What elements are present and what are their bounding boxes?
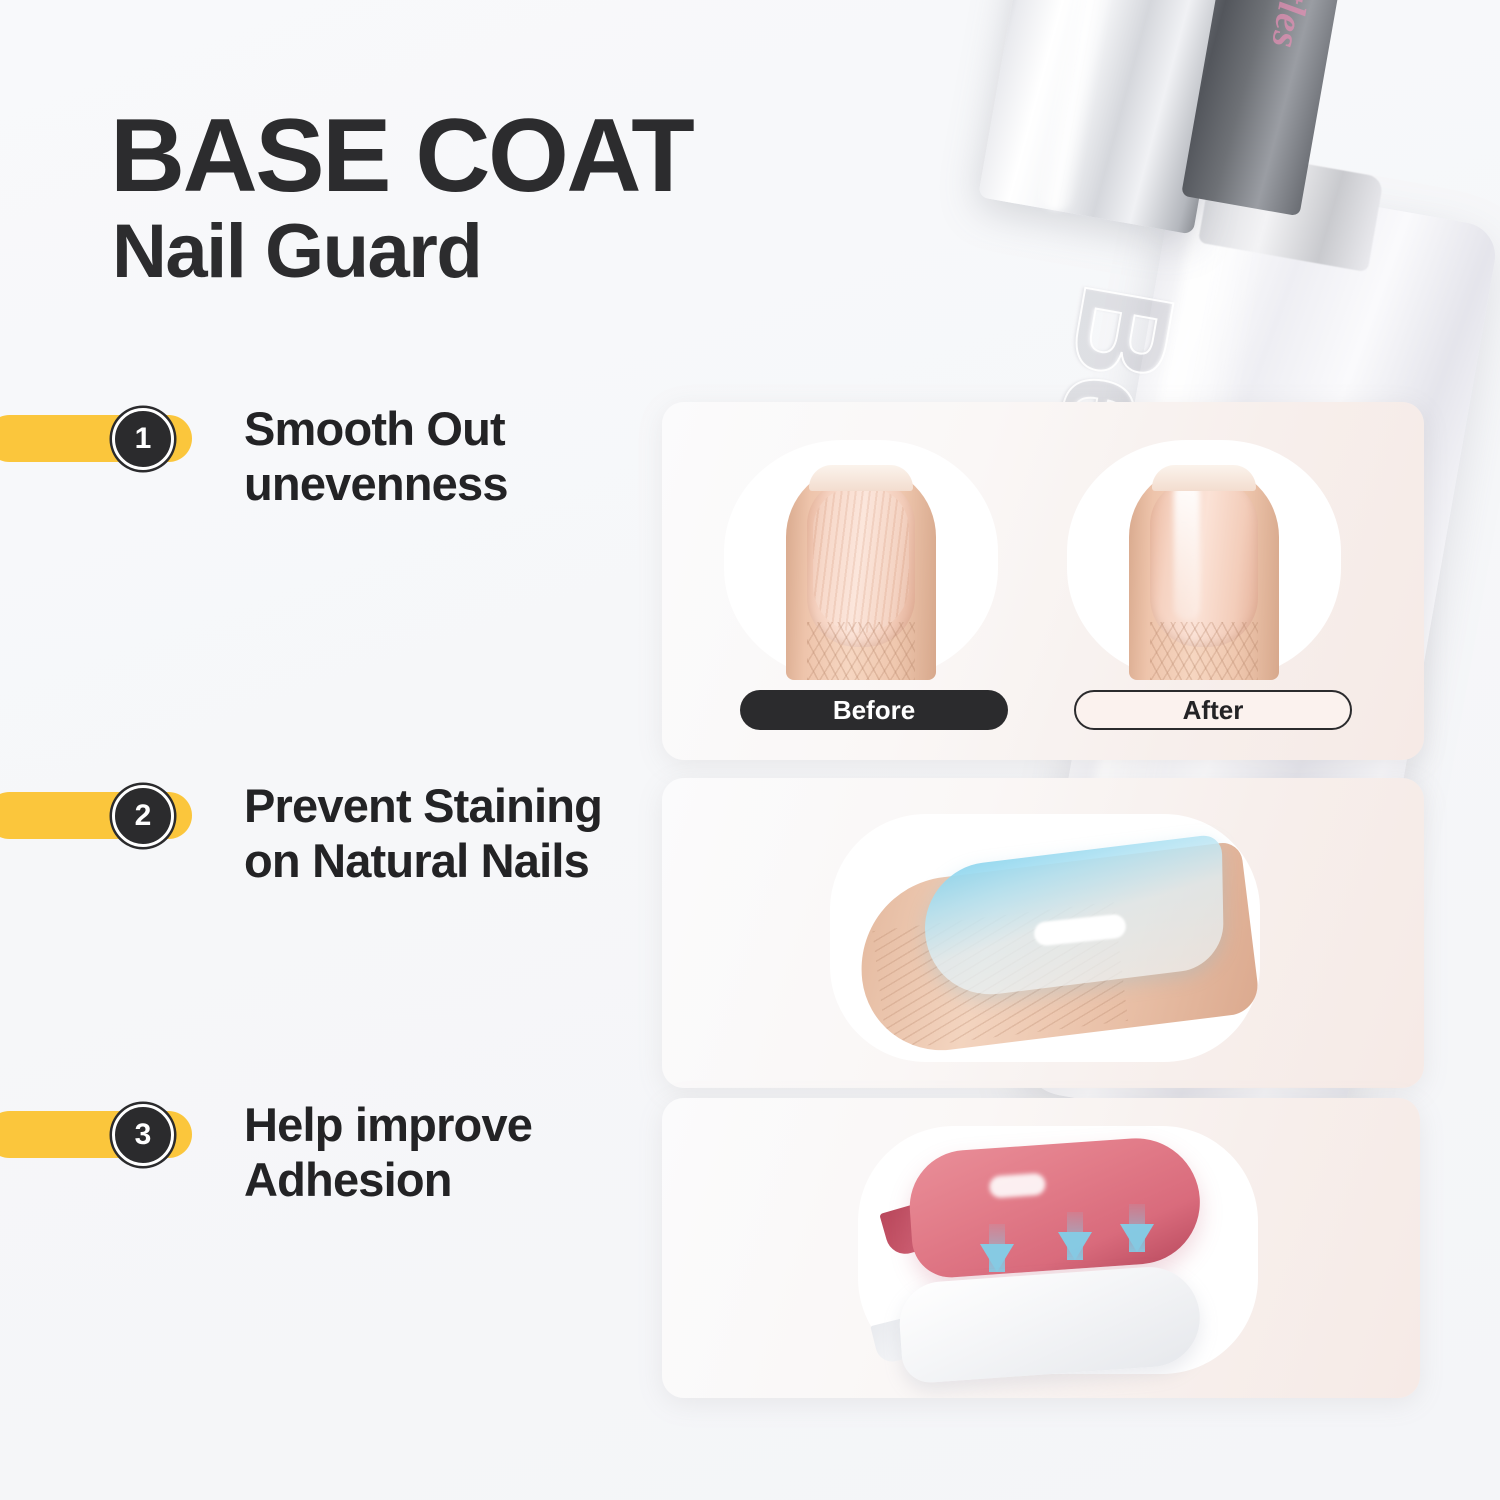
bottle-cap-chrome	[978, 0, 1290, 235]
feature-label-2: Prevent Staining on Natural Nails	[244, 778, 664, 889]
before-label-pill: Before	[740, 690, 1008, 730]
stain-protection-card	[662, 778, 1424, 1088]
after-image-well	[1067, 440, 1341, 680]
before-skin-texture	[807, 622, 915, 680]
cap-brand-mark-dark-facet: Beetles	[1262, 0, 1329, 52]
feature-number-badge-3: 3	[112, 1104, 174, 1166]
after-label-pill: After	[1074, 690, 1352, 730]
product-infographic: Beetles Beetles® Beetles Beetles COAT 0.…	[0, 0, 1500, 1500]
after-skin-texture	[1150, 622, 1258, 680]
feature-badge-group-3: 3	[0, 1102, 212, 1168]
feature-label-1: Smooth Out unevenness	[244, 401, 664, 512]
feature-label-3: Help improve Adhesion	[244, 1097, 664, 1208]
before-nail-tip	[809, 465, 913, 491]
bottle-cap-highlight	[1034, 0, 1168, 213]
comparison-card: Before After	[662, 402, 1424, 760]
feature-badge-group-1: 1	[0, 406, 212, 472]
cap-brand-mark-middle: Beetles®	[1091, 0, 1167, 2]
adhesion-arrow-icon-1	[980, 1244, 1014, 1272]
gel-polish-drop	[906, 1134, 1204, 1280]
registered-trademark-icon: ®	[1113, 0, 1135, 1]
adhesion-arrow-icon-2	[1058, 1232, 1092, 1260]
feature-number-badge-1: 1	[112, 408, 174, 470]
bottle-cap-shadow-facet	[1181, 0, 1393, 216]
feature-item-1: 1 Smooth Out unevenness	[0, 406, 664, 512]
page-title: BASE COAT	[110, 108, 890, 206]
adhesion-arrow-icon-3	[1120, 1224, 1154, 1252]
feature-item-3: 3 Help improve Adhesion	[0, 1102, 664, 1208]
feature-badge-group-2: 2	[0, 783, 212, 849]
before-nail-ridges	[813, 487, 909, 633]
after-nail-gloss	[1174, 481, 1200, 621]
base-coat-layer	[897, 1264, 1203, 1385]
page-title-block: BASE COAT Nail Guard	[110, 108, 890, 292]
page-subtitle: Nail Guard	[112, 212, 890, 293]
after-fingertip-illustration	[1129, 465, 1279, 680]
adhesion-card	[662, 1098, 1420, 1398]
before-image-well	[724, 440, 998, 680]
before-fingertip-illustration	[786, 465, 936, 680]
feature-number-badge-2: 2	[112, 785, 174, 847]
feature-item-2: 2 Prevent Staining on Natural Nails	[0, 783, 664, 889]
bottle-neck	[1198, 148, 1384, 272]
after-nail-tip	[1152, 465, 1256, 491]
